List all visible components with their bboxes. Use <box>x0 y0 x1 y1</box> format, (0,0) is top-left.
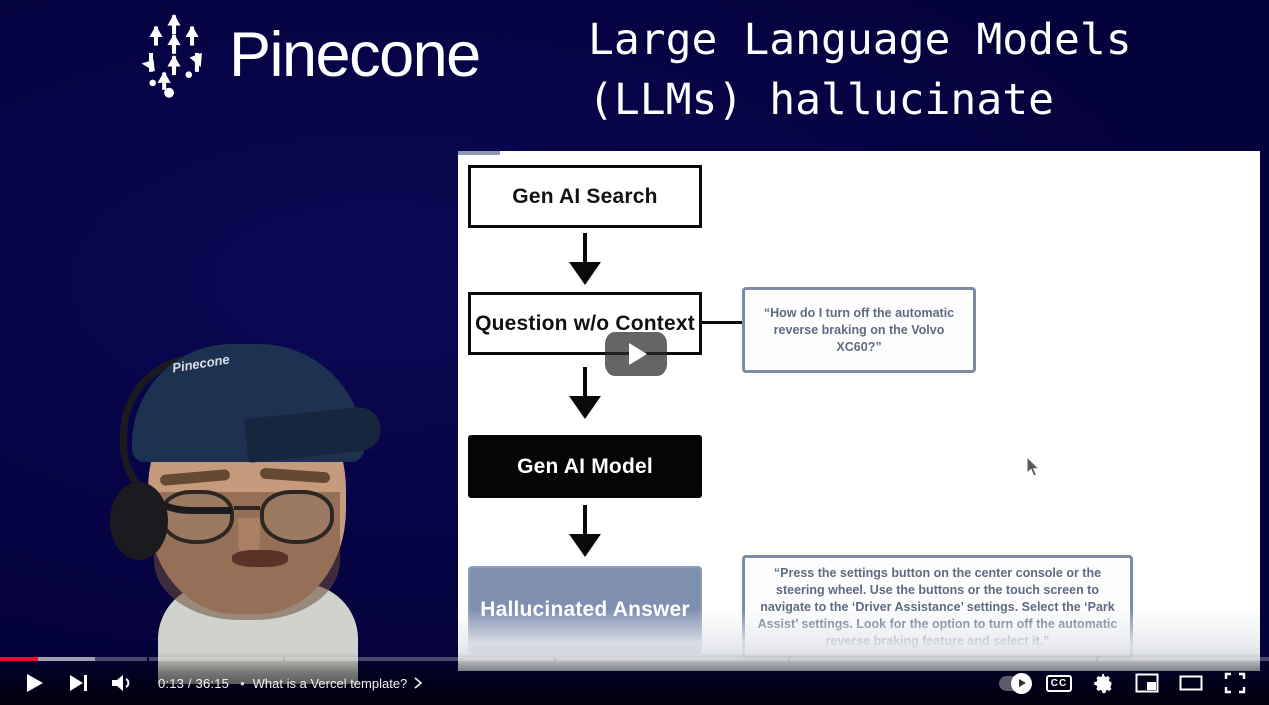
volume-button[interactable] <box>100 661 144 705</box>
connector-question-to-callout <box>702 321 744 324</box>
glasses-lens-right <box>260 490 334 544</box>
glasses-bridge <box>234 506 260 510</box>
connector-answer-to-callout <box>458 151 500 155</box>
time-separator: / <box>188 676 192 691</box>
fullscreen-icon <box>1224 672 1246 694</box>
next-track-icon <box>67 672 89 694</box>
pinecone-arrows-logo-icon <box>133 12 215 98</box>
presenter-mouth <box>232 550 288 567</box>
slide-panel: Gen AI Search Question w/o Context Gen A… <box>458 151 1260 671</box>
chevron-right-icon <box>413 676 424 690</box>
miniplayer-icon <box>1135 673 1159 693</box>
presenter-webcam: Pinecone <box>96 332 406 682</box>
volume-icon <box>110 672 134 694</box>
total-time: 36:15 <box>196 676 230 691</box>
settings-button[interactable] <box>1081 661 1125 705</box>
slide-title: Large Language Models (LLMs) hallucinate <box>588 10 1148 130</box>
fullscreen-button[interactable] <box>1213 661 1257 705</box>
theater-mode-button[interactable] <box>1169 661 1213 705</box>
callout-question-text: “How do I turn off the automatic reverse… <box>742 287 976 373</box>
subtitles-button[interactable]: CC <box>1037 661 1081 705</box>
autoplay-toggle[interactable] <box>993 661 1037 705</box>
gear-icon <box>1092 672 1115 695</box>
control-row: 0:13 / 36:15 • What is a Vercel template… <box>0 661 1269 705</box>
chapter-title-link[interactable]: • What is a Vercel template? <box>238 676 424 691</box>
control-left-group: 0:13 / 36:15 • What is a Vercel template… <box>0 661 424 705</box>
arrow-cursor-icon <box>1026 456 1042 478</box>
pinecone-wordmark: Pinecone <box>229 24 480 87</box>
callout-answer-text: “Press the settings button on the center… <box>742 555 1133 659</box>
control-right-group: CC <box>993 661 1269 705</box>
arrow-down-icon <box>565 503 605 559</box>
autoplay-toggle-icon <box>999 676 1031 691</box>
play-icon <box>629 343 647 365</box>
play-icon <box>23 672 45 694</box>
chapter-title: What is a Vercel template? <box>253 676 408 691</box>
time-display: 0:13 / 36:15 <box>144 676 238 691</box>
pinecone-logo: Pinecone <box>133 12 480 98</box>
autoplay-knob <box>1011 673 1032 694</box>
next-video-button[interactable] <box>56 661 100 705</box>
headphones-earcup <box>110 482 168 560</box>
arrow-down-icon <box>565 231 605 287</box>
chapter-separator: • <box>238 676 247 691</box>
play-button[interactable] <box>12 661 56 705</box>
diagram-node-gen-ai-model: Gen AI Model <box>468 435 702 498</box>
diagram-node-hallucinated-answer: Hallucinated Answer <box>468 566 702 654</box>
closed-captions-icon: CC <box>1046 675 1072 692</box>
current-time: 0:13 <box>158 676 184 691</box>
arrow-down-icon <box>565 365 605 421</box>
play-icon <box>1019 679 1026 687</box>
overlay-play-button[interactable] <box>605 332 667 376</box>
diagram-node-gen-ai-search: Gen AI Search <box>468 165 702 228</box>
youtube-video-player[interactable]: Pinecone Large Language Models (LLMs) ha… <box>0 0 1269 705</box>
theater-mode-icon <box>1179 673 1203 693</box>
miniplayer-button[interactable] <box>1125 661 1169 705</box>
